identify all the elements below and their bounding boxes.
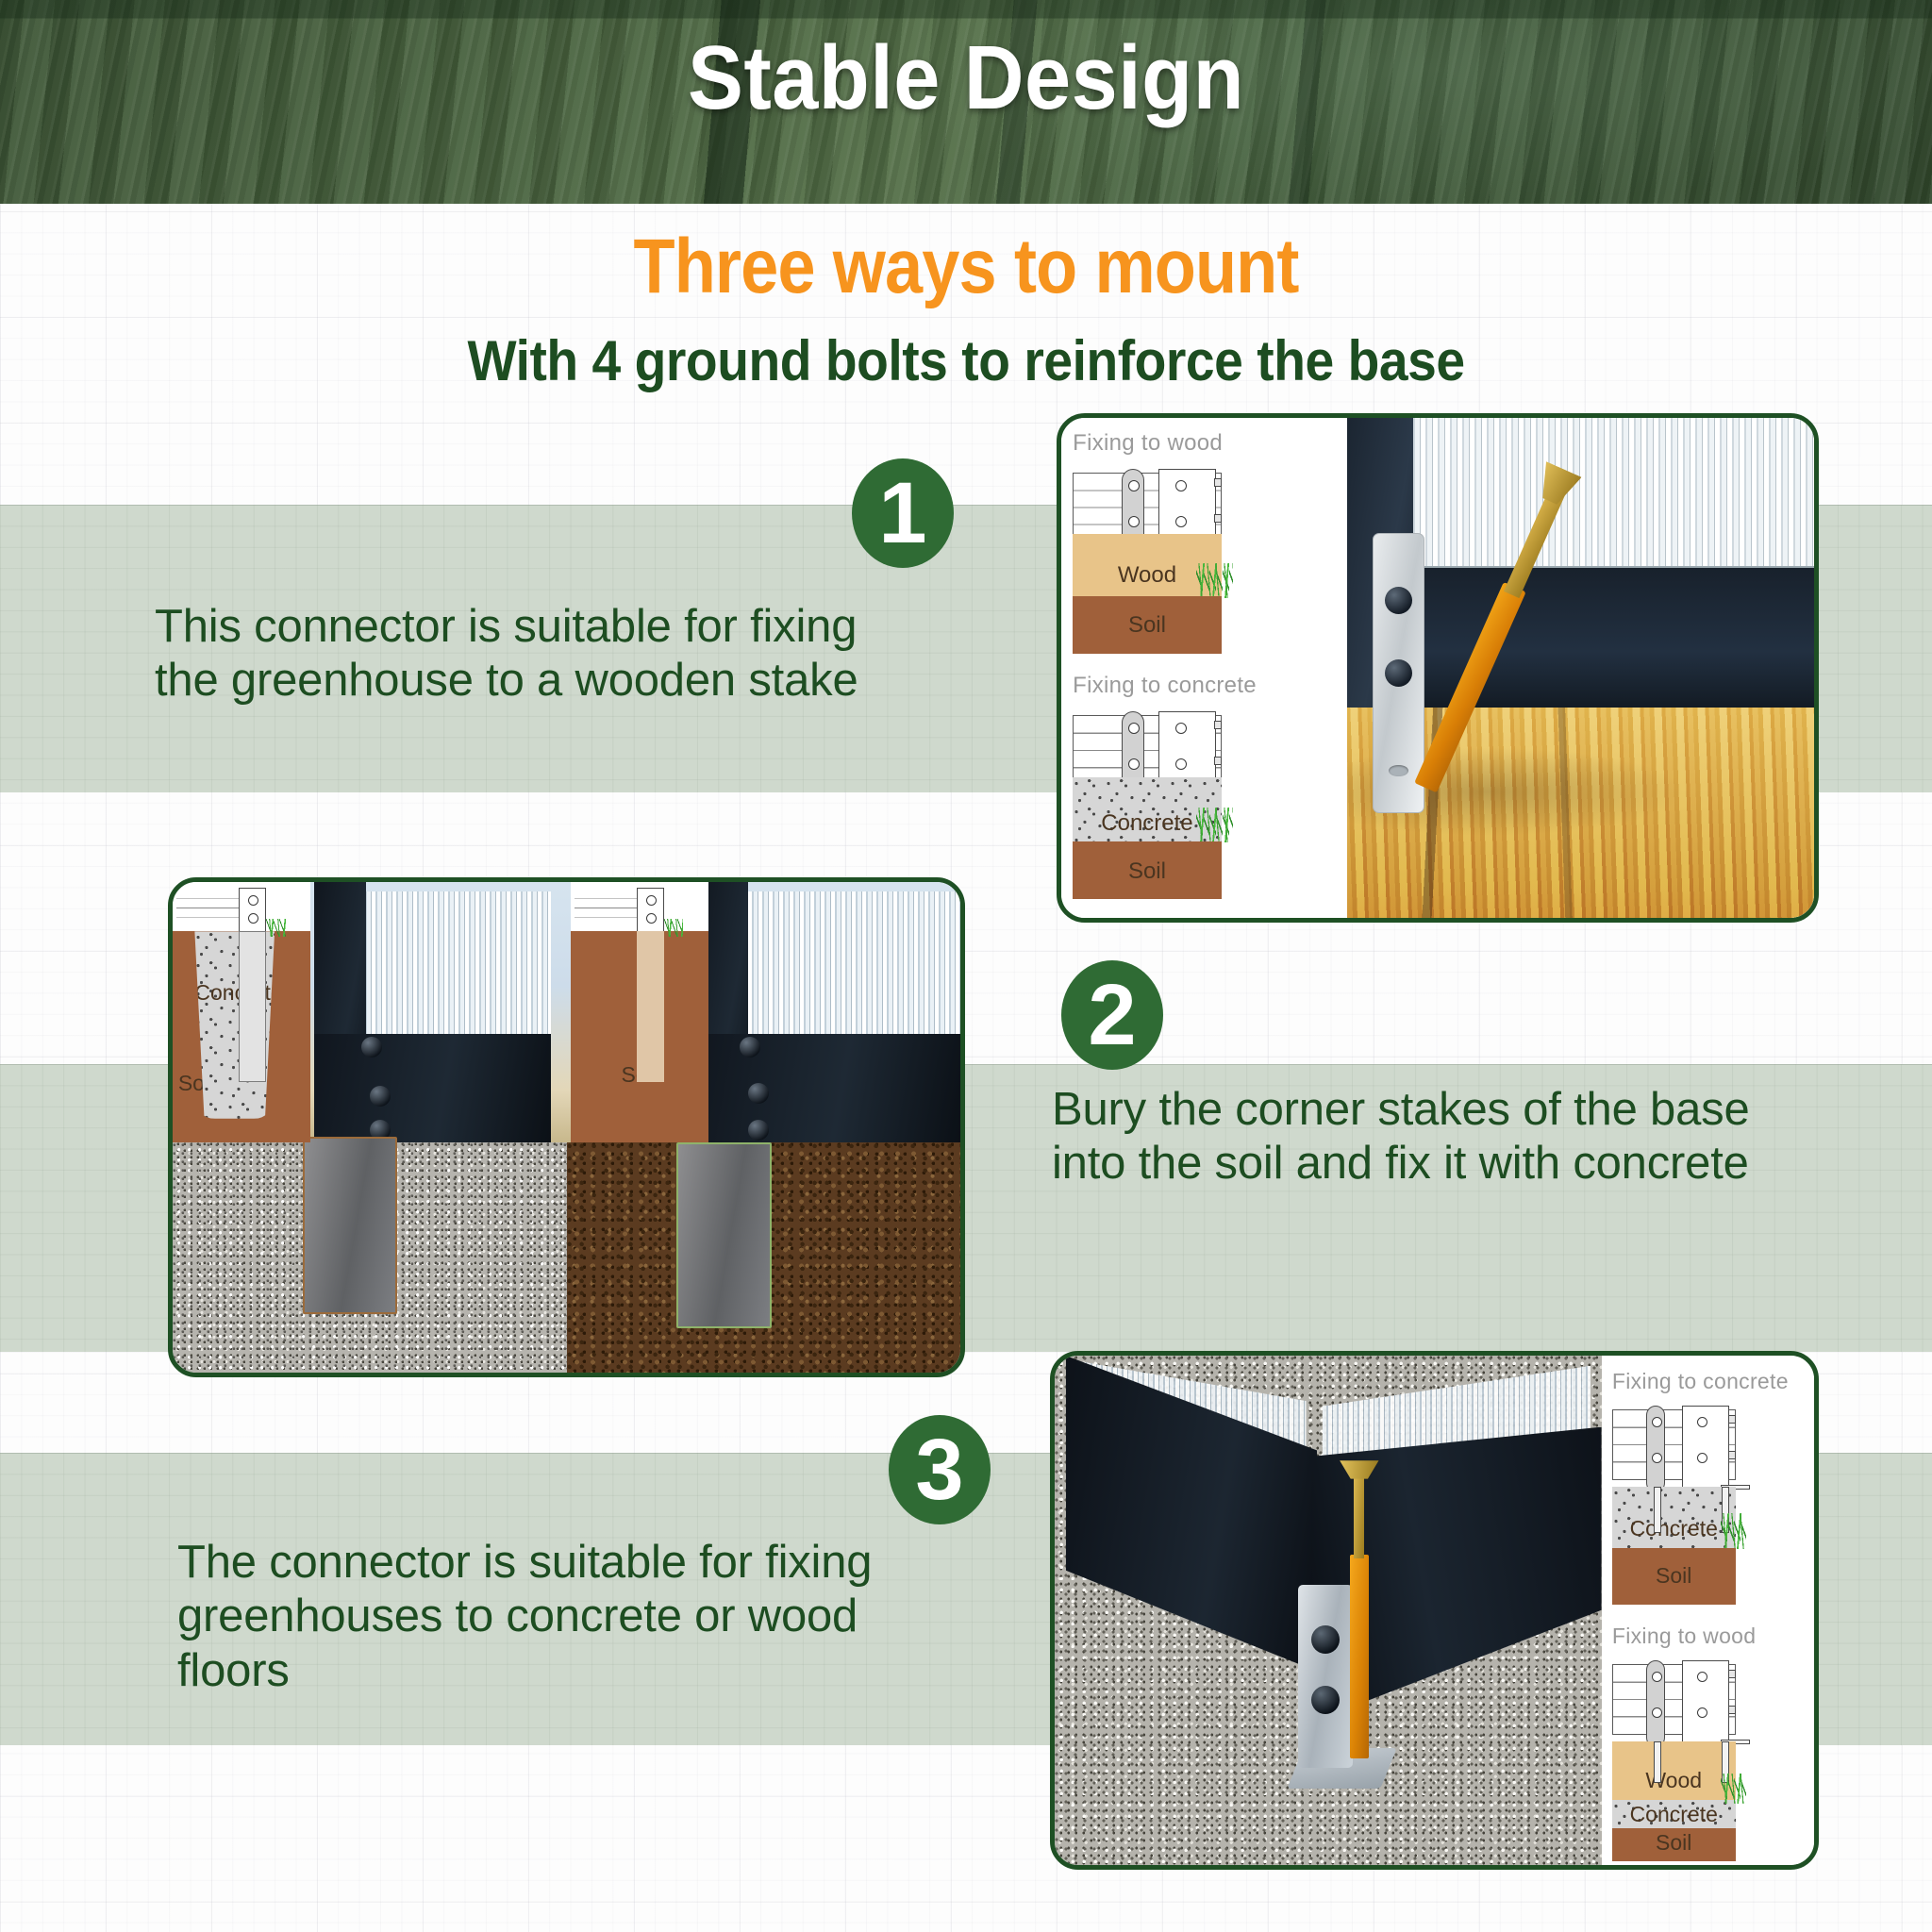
card1-bot-grass-icon	[1196, 808, 1233, 842]
card3-bot-soil-label: Soil	[1612, 1830, 1736, 1856]
card1-top-hole-2	[1128, 516, 1140, 527]
card2-anchor-box-right	[676, 1142, 771, 1329]
step-2-photo-card: Soil Concrete	[168, 877, 965, 1377]
step-3-text: The connector is suitable for fixing gre…	[177, 1536, 932, 1698]
card2-frame-rail-left	[314, 1034, 551, 1141]
card3-photo	[1055, 1356, 1602, 1865]
card3-orange-anchor-screw	[1350, 1555, 1369, 1758]
card1-polycarbonate-panel	[1408, 418, 1814, 568]
card3-metal-bracket	[1298, 1585, 1353, 1768]
header-banner: Stable Design	[0, 0, 1932, 204]
card3-top-screw-1	[1654, 1487, 1661, 1533]
card1-metal-plate	[1373, 533, 1424, 813]
card3-bot-tab-1	[1728, 1670, 1736, 1678]
card3-top-tab-1	[1728, 1415, 1736, 1424]
card2-right-grass-icon	[664, 919, 683, 937]
card2-nut-right-4	[748, 1083, 769, 1104]
card1-bot-soil-layer: Soil	[1073, 841, 1222, 899]
card3-top-hole-1	[1652, 1417, 1662, 1427]
page-title: Stable Design	[77, 26, 1855, 130]
card1-plate-hole	[1389, 765, 1408, 777]
card3-top-hole-3	[1697, 1417, 1707, 1427]
card1-bot-soil-label: Soil	[1073, 858, 1222, 885]
subtitle-orange: Three ways to mount	[116, 223, 1816, 311]
card3-bot-tab-2	[1728, 1706, 1736, 1714]
step-2-text: Bury the corner stakes of the base into …	[1052, 1083, 1769, 1191]
card1-top-hole-1	[1128, 480, 1140, 491]
card1-bot-hole-1	[1128, 723, 1140, 734]
card3-bot-hole-3	[1697, 1672, 1707, 1682]
infographic-page: Stable Design Three ways to mount With 4…	[0, 0, 1932, 1932]
card2-left-bracket	[239, 888, 266, 935]
step-2-badge: 2	[1061, 960, 1163, 1070]
card2-right-buried-stake	[637, 931, 664, 1082]
card2-left-grass-icon	[266, 919, 285, 937]
card1-top-tab-2	[1214, 514, 1222, 523]
card1-bot-hole-4	[1175, 723, 1187, 734]
card1-top-soil-label: Soil	[1073, 612, 1222, 639]
card3-bot-concrete-label: Concrete	[1612, 1802, 1736, 1827]
card3-bot-wood-label: Wood	[1612, 1768, 1736, 1793]
step-1-text: This connector is suitable for fixing th…	[155, 600, 928, 708]
card1-bolt-1	[1385, 587, 1412, 614]
card3-bot-grass-icon	[1721, 1774, 1746, 1804]
card3-bot-hole-4	[1697, 1707, 1707, 1718]
card3-bot-concrete-layer: Concrete	[1612, 1800, 1736, 1828]
card3-top-soil-label: Soil	[1612, 1563, 1736, 1589]
card1-top-tab-1	[1214, 478, 1222, 487]
card1-diagram-top-caption: Fixing to wood	[1073, 430, 1223, 457]
card2-right-hole-1	[646, 895, 657, 906]
subtitle-green: With 4 ground bolts to reinforce the bas…	[77, 328, 1855, 393]
card3-nut-1	[1311, 1625, 1340, 1654]
card2-nut-left-2	[370, 1086, 391, 1107]
card3-top-hole-2	[1652, 1453, 1662, 1463]
card1-bot-tab-1	[1214, 721, 1222, 729]
card2-nut-right-5	[748, 1120, 769, 1141]
step-1-badge: 1	[852, 458, 954, 568]
card1-diagram-bottom-caption: Fixing to concrete	[1073, 673, 1257, 699]
card2-diagram-right: Soil	[571, 882, 708, 1142]
card3-diagram-column: Fixing to concrete Concrete Soil	[1602, 1356, 1814, 1865]
card1-bot-hole-2	[1128, 758, 1140, 770]
card1-top-grass-icon	[1196, 563, 1233, 598]
card1-top-soil-layer: Soil	[1073, 596, 1222, 654]
card2-diagram-left: Soil Concrete	[173, 882, 310, 1142]
card3-top-concrete-label: Concrete	[1612, 1516, 1736, 1541]
card3-top-concrete-layer: Concrete	[1612, 1487, 1736, 1548]
step-3-photo-card: Fixing to concrete Concrete Soil	[1050, 1351, 1819, 1870]
card1-bolt-2	[1385, 659, 1412, 687]
card1-photo	[1347, 418, 1814, 918]
card3-top-tab-2	[1728, 1451, 1736, 1459]
step-1-photo-card: Fixing to wood Wood Soil	[1057, 413, 1819, 923]
card1-top-hole-4	[1175, 480, 1187, 491]
card3-bot-hole-2	[1652, 1707, 1662, 1718]
card2-anchor-box-left	[303, 1137, 397, 1313]
card3-nut-2	[1311, 1686, 1340, 1714]
card3-top-hole-4	[1697, 1453, 1707, 1463]
step-3-badge: 3	[889, 1415, 991, 1524]
card2-frame-rail-right	[696, 1034, 960, 1141]
card3-top-grass-icon	[1721, 1513, 1746, 1549]
card3-diagram-bottom-caption: Fixing to wood	[1612, 1624, 1757, 1649]
card1-diagram-column: Fixing to wood Wood Soil	[1061, 418, 1347, 918]
card3-diagram-top-caption: Fixing to concrete	[1612, 1369, 1789, 1394]
card3-top-soil-layer: Soil	[1612, 1548, 1736, 1604]
card3-bot-hole-1	[1652, 1672, 1662, 1682]
card2-nut-right-1	[740, 1037, 760, 1058]
card3-bot-soil-layer: Soil	[1612, 1828, 1736, 1861]
card2-right-bracket	[637, 888, 664, 935]
card3-bot-screw-1	[1654, 1741, 1661, 1782]
card2-left-buried-bracket	[239, 931, 266, 1082]
card1-bot-tab-2	[1214, 757, 1222, 765]
card3-bot-wood-layer: Wood	[1612, 1741, 1736, 1800]
